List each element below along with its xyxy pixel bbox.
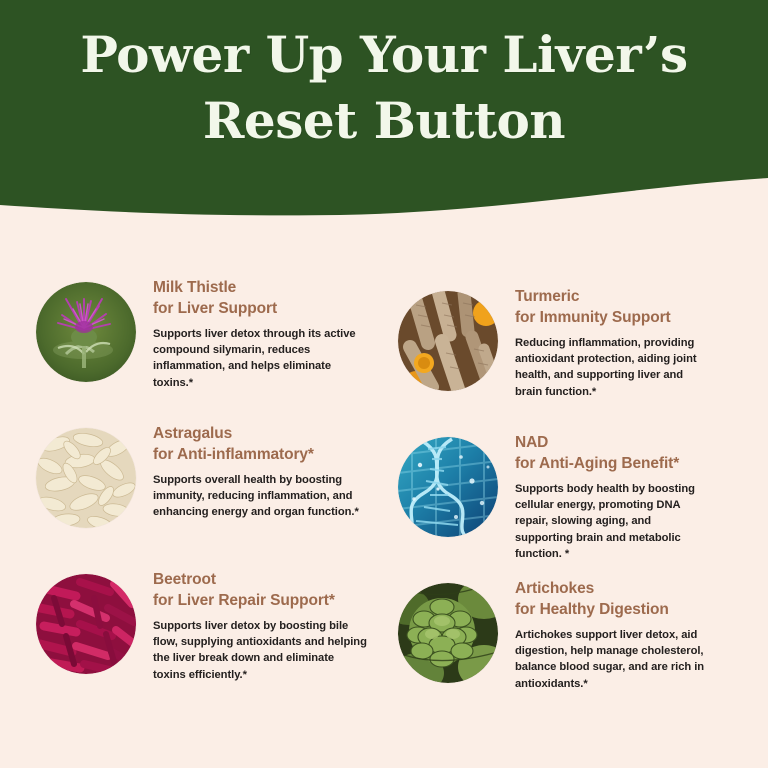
ingredient-card-artichokes: Artichokes for Healthy Digestion Articho…	[384, 579, 768, 725]
page-title-line-1: Power Up Your Liver’s	[0, 22, 768, 88]
beetroot-icon	[36, 574, 136, 674]
ingredient-heading: Turmeric for Immunity Support	[515, 287, 768, 328]
ingredient-benefit: for Liver Repair Support*	[153, 591, 384, 612]
ingredient-text-turmeric: Turmeric for Immunity Support Reducing i…	[498, 287, 768, 400]
ingredient-name: Milk Thistle	[153, 279, 236, 296]
ingredient-card-turmeric: Turmeric for Immunity Support Reducing i…	[384, 287, 768, 433]
milk-thistle-icon	[36, 282, 136, 382]
ingredient-description: Supports overall health by boosting immu…	[153, 472, 368, 520]
ingredient-description: Supports body health by boosting cellula…	[515, 481, 711, 562]
milk-thistle-photo	[36, 282, 136, 382]
ingredient-text-astragalus: Astragalus for Anti-inflammatory* Suppor…	[136, 424, 384, 521]
ingredients-column-right: Turmeric for Immunity Support Reducing i…	[384, 230, 768, 725]
ingredient-benefit: for Liver Support	[153, 299, 384, 320]
astragalus-icon	[36, 428, 136, 528]
ingredient-card-milk-thistle: Milk Thistle for Liver Support Supports …	[0, 278, 384, 424]
ingredient-text-artichokes: Artichokes for Healthy Digestion Articho…	[498, 579, 768, 692]
ingredient-description: Reducing inflammation, providing antioxi…	[515, 335, 711, 400]
ingredient-text-beetroot: Beetroot for Liver Repair Support* Suppo…	[136, 570, 384, 683]
ingredient-name: Artichokes	[515, 580, 594, 597]
ingredient-text-nad: NAD for Anti-Aging Benefit* Supports bod…	[498, 433, 768, 562]
ingredient-benefit: for Immunity Support	[515, 308, 768, 329]
ingredient-heading: Beetroot for Liver Repair Support*	[153, 570, 384, 611]
astragalus-photo	[36, 428, 136, 528]
dna-helix-icon	[398, 437, 498, 537]
turmeric-icon	[398, 291, 498, 391]
ingredient-name: NAD	[515, 434, 548, 451]
ingredient-benefit: for Healthy Digestion	[515, 600, 768, 621]
ingredient-card-astragalus: Astragalus for Anti-inflammatory* Suppor…	[0, 424, 384, 570]
nad-dna-photo	[398, 437, 498, 537]
ingredient-description: Supports liver detox through its active …	[153, 326, 368, 391]
turmeric-photo	[398, 291, 498, 391]
ingredient-heading: Artichokes for Healthy Digestion	[515, 579, 768, 620]
page-title-line-2: Reset Button	[0, 88, 768, 154]
ingredient-name: Beetroot	[153, 571, 216, 588]
ingredient-description: Artichokes support liver detox, aid dige…	[515, 627, 711, 692]
ingredient-card-nad: NAD for Anti-Aging Benefit* Supports bod…	[384, 433, 768, 579]
ingredient-text-milk-thistle: Milk Thistle for Liver Support Supports …	[136, 278, 384, 391]
ingredient-heading: Milk Thistle for Liver Support	[153, 278, 384, 319]
artichokes-photo	[398, 583, 498, 683]
ingredient-description: Supports liver detox by boosting bile fl…	[153, 618, 368, 683]
ingredients-grid: Milk Thistle for Liver Support Supports …	[0, 230, 768, 768]
ingredient-benefit: for Anti-Aging Benefit*	[515, 454, 768, 475]
artichoke-icon	[398, 583, 498, 683]
ingredient-name: Astragalus	[153, 425, 232, 442]
ingredient-heading: NAD for Anti-Aging Benefit*	[515, 433, 768, 474]
ingredient-card-beetroot: Beetroot for Liver Repair Support* Suppo…	[0, 570, 384, 716]
page-title: Power Up Your Liver’s Reset Button	[0, 22, 768, 154]
ingredients-column-left: Milk Thistle for Liver Support Supports …	[0, 230, 384, 716]
ingredient-heading: Astragalus for Anti-inflammatory*	[153, 424, 384, 465]
ingredient-benefit: for Anti-inflammatory*	[153, 445, 384, 466]
ingredient-name: Turmeric	[515, 288, 579, 305]
hero-banner: Power Up Your Liver’s Reset Button	[0, 0, 768, 230]
beetroot-photo	[36, 574, 136, 674]
